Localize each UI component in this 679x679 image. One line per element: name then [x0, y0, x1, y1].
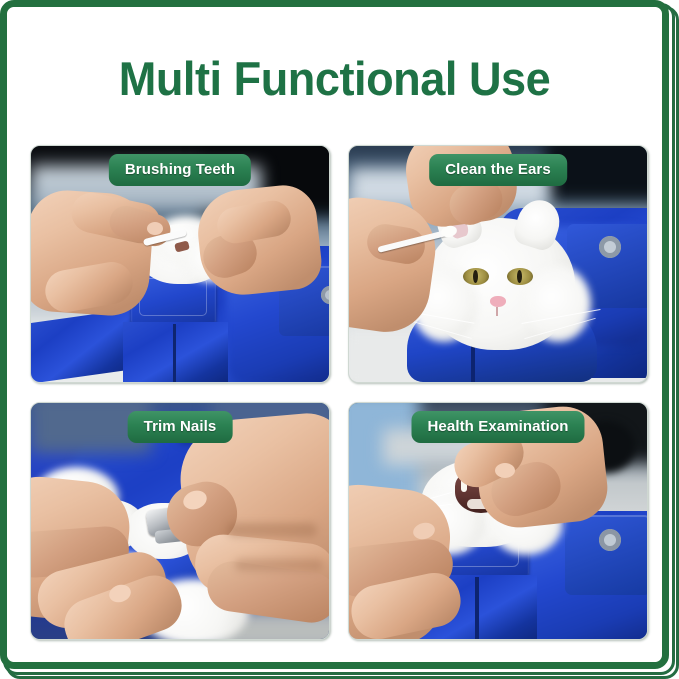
panel-trim-nails[interactable]: Trim Nails: [30, 402, 330, 640]
panel-label-brushing-teeth: Brushing Teeth: [109, 154, 251, 186]
page-title: Multi Functional Use: [20, 55, 649, 102]
panel-health-examination[interactable]: Health Examination: [348, 402, 648, 640]
panel-label-health-examination: Health Examination: [412, 411, 585, 443]
poster: Multi Functional Use: [0, 0, 679, 679]
panel-label-clean-the-ears: Clean the Ears: [429, 154, 567, 186]
poster-content: Multi Functional Use: [7, 7, 662, 662]
panel-label-trim-nails: Trim Nails: [128, 411, 233, 443]
feature-grid: Brushing Teeth: [30, 145, 648, 650]
panel-brushing-teeth[interactable]: Brushing Teeth: [30, 145, 330, 383]
panel-clean-the-ears[interactable]: Clean the Ears: [348, 145, 648, 383]
